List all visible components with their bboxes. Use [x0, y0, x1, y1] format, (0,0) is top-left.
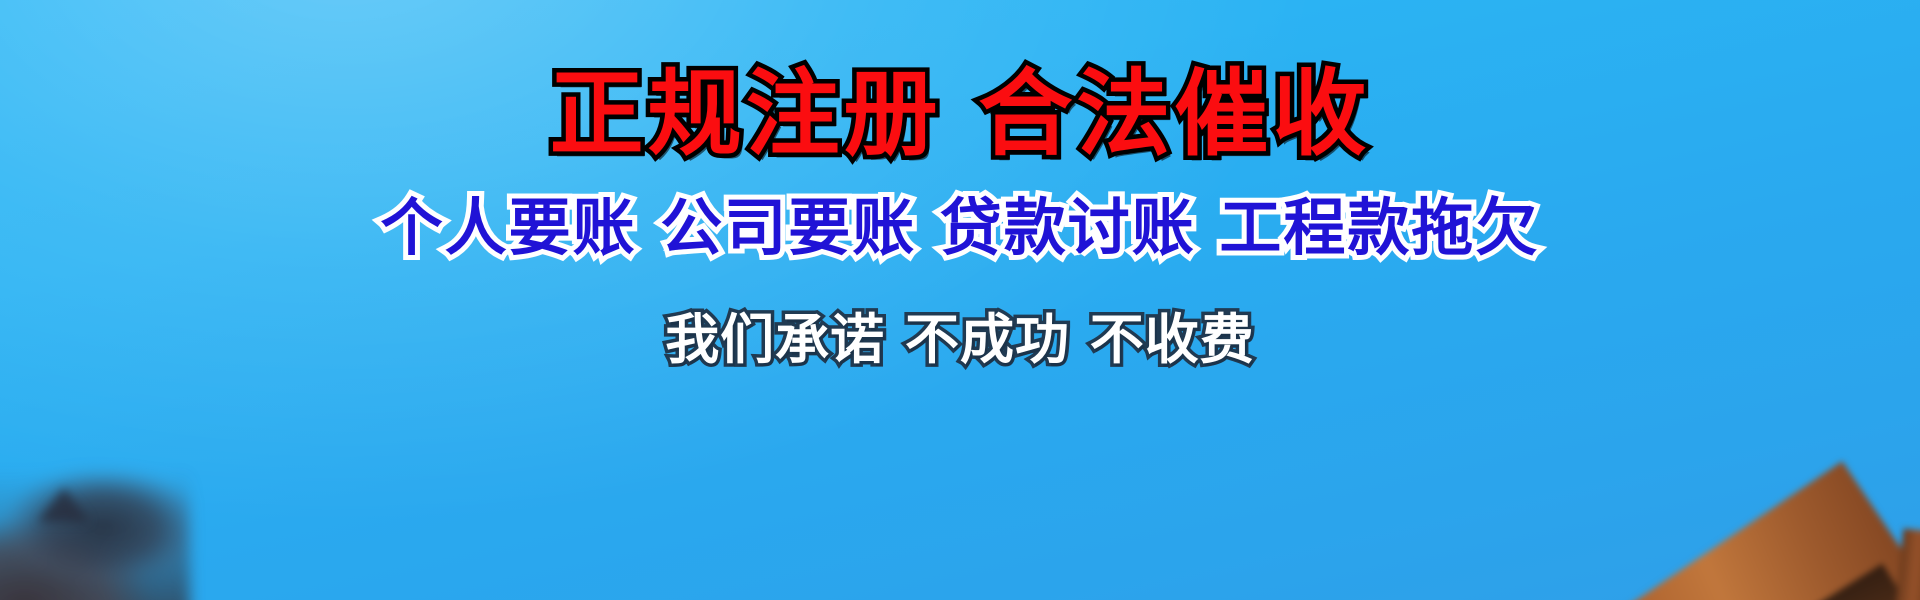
banner-promise-line: 我们承诺 不成功 不收费: [665, 312, 1255, 369]
promotional-banner: 正规注册 合法催收 个人要账 公司要账 贷款讨账 工程款拖欠 我们承诺 不成功 …: [0, 0, 1920, 600]
banner-services-line: 个人要账 公司要账 贷款讨账 工程款拖欠: [381, 195, 1540, 260]
banner-headline: 正规注册 合法催收: [550, 66, 1371, 165]
banner-text-stack: 正规注册 合法催收 个人要账 公司要账 贷款讨账 工程款拖欠 我们承诺 不成功 …: [0, 0, 1920, 600]
